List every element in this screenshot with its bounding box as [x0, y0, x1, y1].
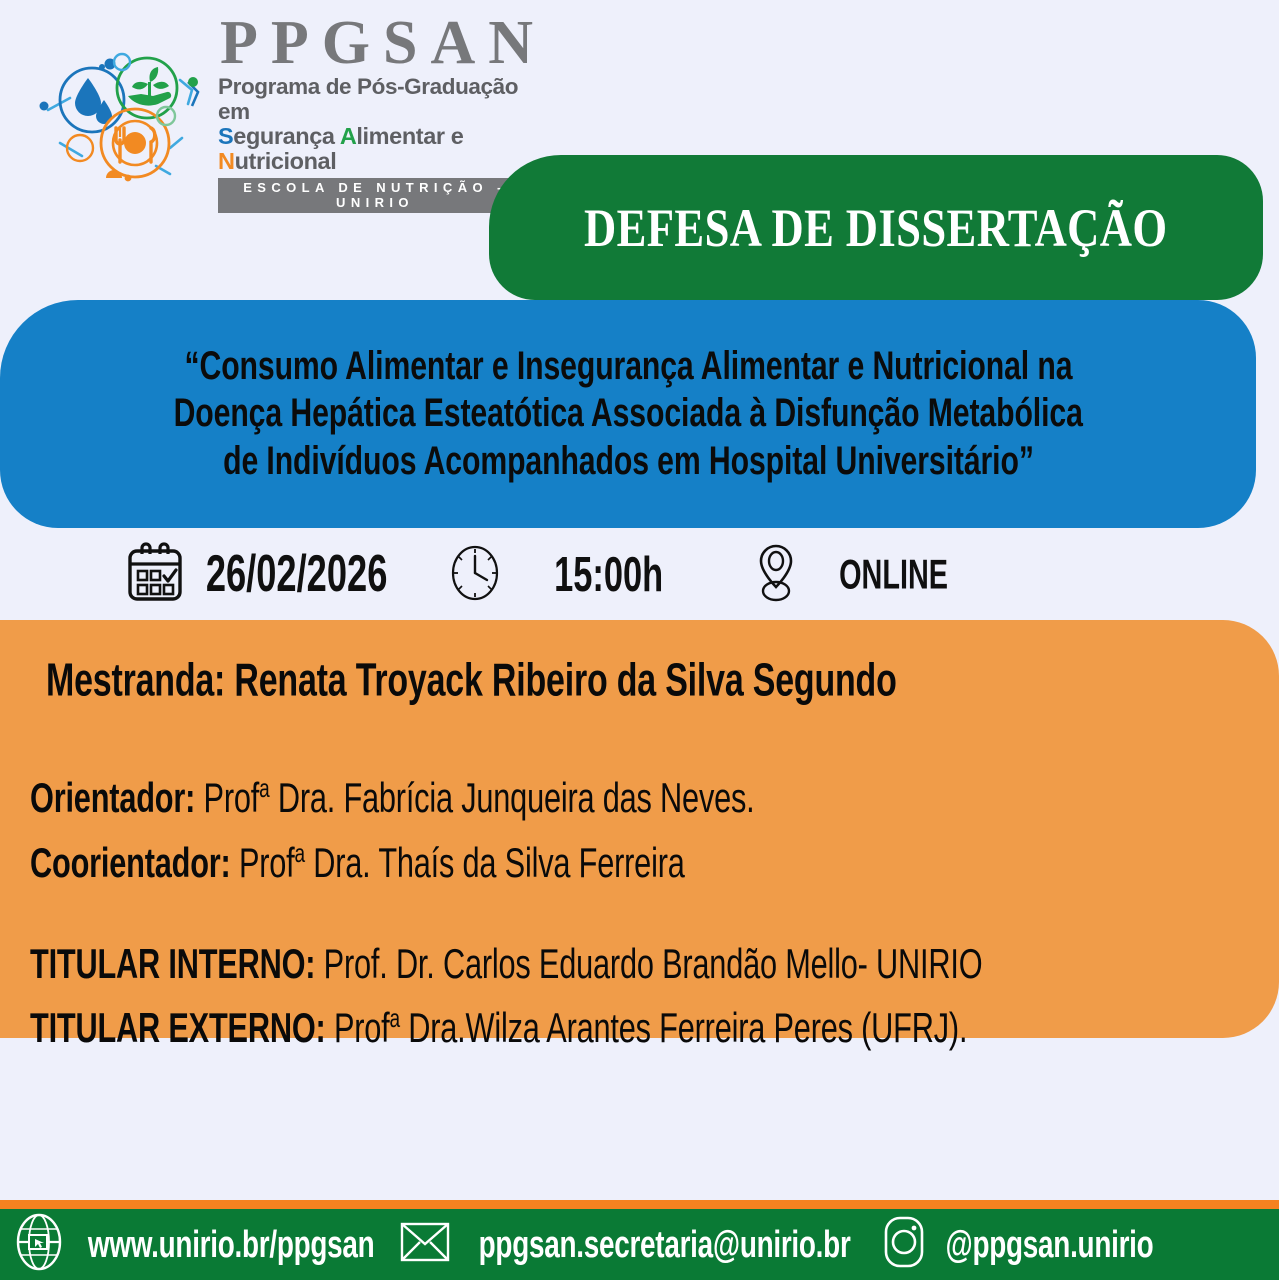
footer-contact-bar: www.unirio.br/ppgsan ppgsan.secretaria@u… [0, 1209, 1279, 1280]
thesis-title-box: “Consumo Alimentar e Insegurança Aliment… [0, 300, 1256, 528]
advisor-label: Orientador: [30, 774, 195, 821]
footer-website-text: www.unirio.br/ppgsan [88, 1223, 375, 1267]
event-date: 26/02/2026 [125, 542, 394, 609]
location-pin-icon [751, 541, 801, 610]
footer-accent-strip [0, 1200, 1279, 1209]
coadvisor-row: Coorientador: Profa Dra. Thaís da Silva … [30, 839, 1200, 887]
footer-instagram-text: @ppgsan.unirio [945, 1223, 1153, 1267]
student-name: Renata Troyack Ribeiro da Silva Segundo [234, 655, 896, 706]
internal-member-label: TITULAR INTERNO: [30, 940, 315, 987]
thesis-title-line-3: de Indivíduos Acompanhados em Hospital U… [223, 431, 1034, 493]
ppgsan-school-band: ESCOLA DE NUTRIÇÃO - UNIRIO [218, 178, 531, 213]
event-location: ONLINE [751, 541, 952, 610]
ppgsan-program-line1: Programa de Pós-Graduação em [218, 75, 546, 124]
internal-member-name: Prof. Dr. Carlos Eduardo Brandão Mello- … [324, 940, 983, 987]
defense-banner-title: DEFESA DE DISSERTAÇÃO [584, 196, 1167, 259]
external-member-row: TITULAR EXTERNO: Profa Dra.Wilza Arantes… [30, 1004, 1200, 1052]
event-time-text: 15:00h [554, 547, 663, 603]
event-date-text: 26/02/2026 [206, 546, 388, 605]
footer-website[interactable]: www.unirio.br/ppgsan [12, 1213, 390, 1276]
student-row: Mestranda: Renata Troyack Ribeiro da Sil… [46, 655, 1213, 708]
logo-s: S [218, 123, 233, 149]
event-info-row: 26/02/2026 15:00h [0, 530, 1279, 620]
ppgsan-program-line2: Segurança Alimentar e Nutricional [218, 124, 546, 175]
logo-limentar: limentar e [356, 123, 463, 149]
logo-n: N [218, 148, 235, 174]
calendar-icon [125, 542, 185, 609]
footer-email[interactable]: ppgsan.secretaria@unirio.br [396, 1214, 871, 1275]
logo-a: A [340, 123, 357, 149]
coadvisor-label: Coorientador: [30, 839, 231, 886]
internal-member-row: TITULAR INTERNO: Prof. Dr. Carlos Eduard… [30, 940, 1200, 988]
student-label: Mestranda: [46, 655, 225, 706]
instagram-icon [878, 1213, 930, 1276]
clock-icon [446, 542, 504, 609]
footer-email-text: ppgsan.secretaria@unirio.br [479, 1223, 851, 1267]
ppgsan-logo: PPGSAN Programa de Pós-Graduação em Segu… [30, 38, 530, 188]
ppgsan-logo-text: PPGSAN Programa de Pós-Graduação em Segu… [218, 13, 546, 212]
event-location-text: ONLINE [840, 551, 949, 599]
logo-eguranca: egurança [233, 123, 340, 149]
external-member-name: Profa Dra.Wilza Arantes Ferreira Peres (… [334, 1004, 967, 1051]
globe-icon [12, 1213, 66, 1276]
advisor-row: Orientador: Profa Dra. Fabrícia Junqueir… [30, 774, 1200, 822]
coadvisor-name: Profa Dra. Thaís da Silva Ferreira [239, 839, 685, 886]
ppgsan-acronym: PPGSAN [218, 13, 546, 74]
advisor-name: Profa Dra. Fabrícia Junqueira das Neves. [204, 774, 755, 821]
partner-logos: UNIRIO Universidade Federal do Estado do… [0, 1078, 1279, 1193]
ppgsan-logo-mark [30, 38, 210, 188]
event-time: 15:00h [446, 542, 667, 609]
logo-utricional: utricional [235, 148, 337, 174]
external-member-label: TITULAR EXTERNO: [30, 1004, 326, 1051]
people-panel: Mestranda: Renata Troyack Ribeiro da Sil… [0, 620, 1279, 1038]
defense-banner: DEFESA DE DISSERTAÇÃO [489, 155, 1263, 300]
footer-instagram[interactable]: @ppgsan.unirio [878, 1213, 1165, 1276]
envelope-icon [396, 1214, 454, 1275]
